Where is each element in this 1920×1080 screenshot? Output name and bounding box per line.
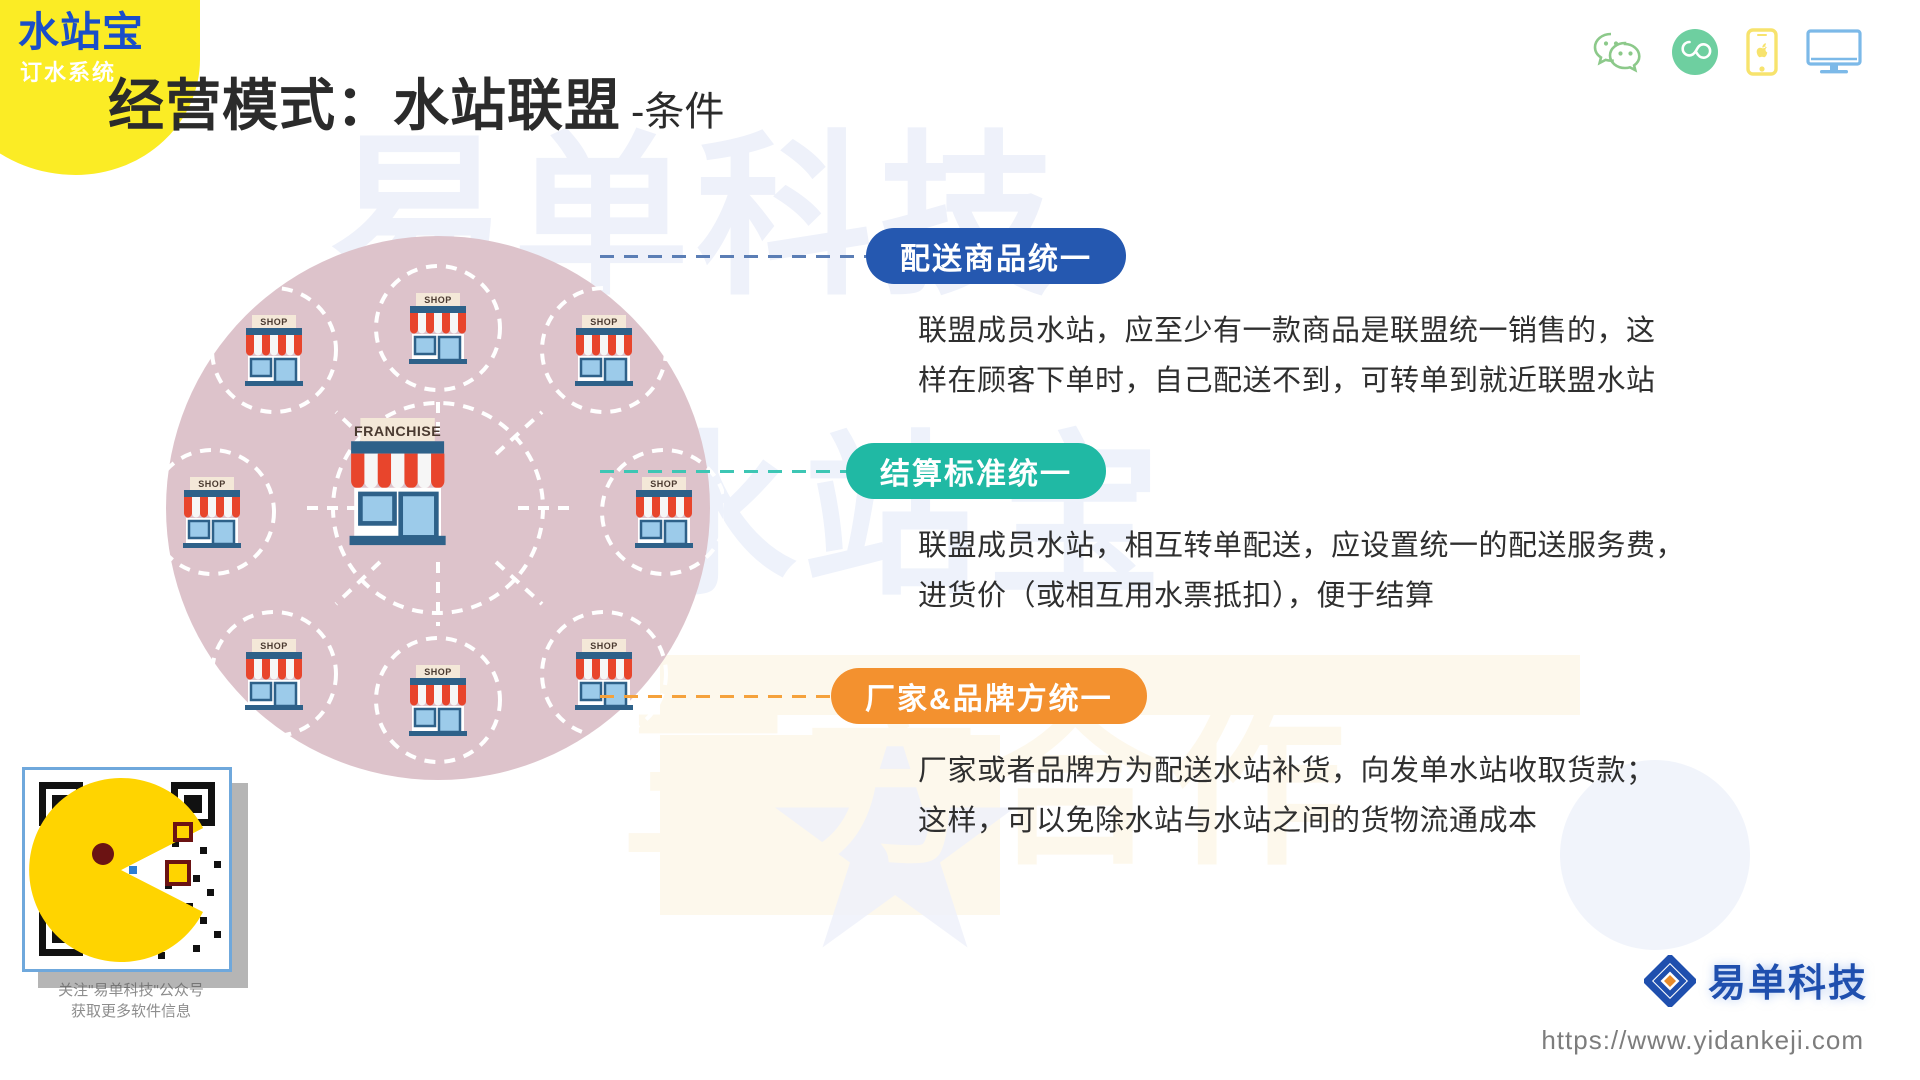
- svg-text:FRANCHISE: FRANCHISE: [354, 424, 441, 440]
- connector-line-blue: [600, 255, 870, 258]
- iphone-app-icon[interactable]: [1746, 28, 1778, 76]
- platform-icon-group: [1592, 28, 1862, 76]
- footer-logo-text: 易单科技: [1708, 965, 1868, 1003]
- section-pill-manufacturer-brand[interactable]: 厂家&品牌方统一: [831, 668, 1147, 724]
- section-body-delivery-goods: 联盟成员水站，应至少有一款商品是联盟统一销售的，这 样在顾客下单时，自己配送不到…: [918, 306, 1656, 406]
- section-pill-delivery-goods[interactable]: 配送商品统一: [866, 228, 1126, 284]
- section-header: 配送商品统一: [600, 228, 1656, 284]
- wechat-icon[interactable]: [1592, 30, 1644, 74]
- connector-line-orange: [600, 695, 835, 698]
- page-title-suffix: -条件: [631, 92, 724, 132]
- qr-block: 关注"易单科技"公众号 获取更多软件信息: [22, 767, 240, 1022]
- section-pill-settlement-standard[interactable]: 结算标准统一: [846, 443, 1106, 499]
- qr-caption: 关注"易单科技"公众号 获取更多软件信息: [22, 980, 240, 1022]
- page-title-main: 经营模式：水站联盟: [108, 78, 621, 134]
- brand-logo-subtitle: 订水系统: [20, 62, 116, 84]
- wechat-official-account-qr[interactable]: [22, 767, 232, 972]
- brand-logo-name: 水站宝: [18, 12, 144, 53]
- section-header: 厂家&品牌方统一: [600, 668, 1656, 724]
- page-title: 经营模式：水站联盟 -条件: [108, 78, 724, 134]
- footer-url: https://www.yidankeji.com: [1541, 1025, 1864, 1056]
- connector-line-teal: [600, 470, 850, 473]
- section-body-manufacturer-brand: 厂家或者品牌方为配送水站补货，向发单水站收取货款； 这样，可以免除水站与水站之间…: [918, 746, 1656, 846]
- section-manufacturer-brand: 厂家&品牌方统一 厂家或者品牌方为配送水站补货，向发单水站收取货款； 这样，可以…: [600, 668, 1656, 846]
- mini-program-icon[interactable]: [1672, 29, 1718, 75]
- desktop-pc-icon[interactable]: [1806, 29, 1862, 75]
- section-body-settlement-standard: 联盟成员水站，相互转单配送，应设置统一的配送服务费， 进货价（或相互用水票抵扣）…: [918, 521, 1685, 621]
- section-settlement-standard: 结算标准统一 联盟成员水站，相互转单配送，应设置统一的配送服务费， 进货价（或相…: [600, 443, 1685, 621]
- section-delivery-goods: 配送商品统一 联盟成员水站，应至少有一款商品是联盟统一销售的，这 样在顾客下单时…: [600, 228, 1656, 406]
- yidan-diamond-icon: [1644, 955, 1696, 1012]
- section-header: 结算标准统一: [600, 443, 1685, 499]
- footer-logo: 易单科技: [1644, 955, 1868, 1012]
